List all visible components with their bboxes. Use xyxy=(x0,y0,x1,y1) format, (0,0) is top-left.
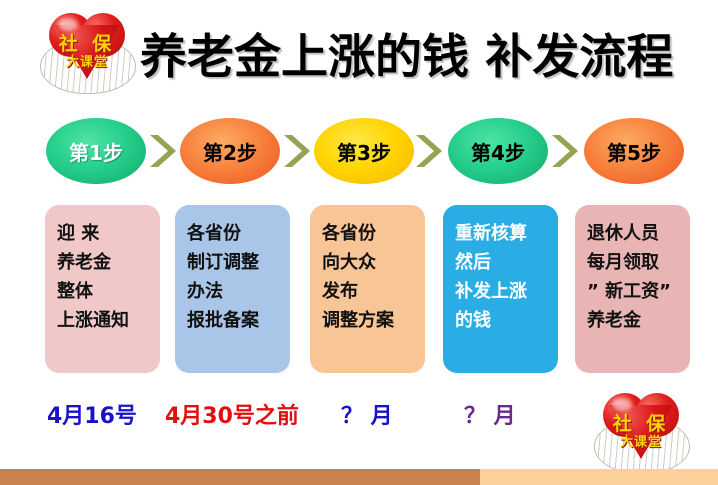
timeline-label-1: 4月16号 xyxy=(47,398,137,430)
card-line: 调整方案 xyxy=(322,306,417,335)
card-line: 制订调整 xyxy=(187,248,282,277)
chevron-right-icon xyxy=(148,133,178,169)
footer-logo: 社 保 大课堂 xyxy=(592,388,690,474)
card-line: 向大众 xyxy=(322,248,417,277)
timeline-label-3: ？ 月 xyxy=(341,398,393,430)
card-line: 报批备案 xyxy=(187,306,282,335)
card-line: 的钱 xyxy=(455,306,550,335)
step-card-3: 各省份 向大众 发布 调整方案 xyxy=(310,205,425,373)
card-line: ” 新工资” xyxy=(587,277,682,306)
heart-logo-icon: 社 保 大课堂 xyxy=(603,393,679,461)
timeline-label-4: ？ 月 xyxy=(464,398,516,430)
chevron-right-icon xyxy=(550,133,580,169)
card-line: 然后 xyxy=(455,248,550,277)
header-logo: 社 保 大课堂 xyxy=(38,8,136,94)
heart-logo-icon: 社 保 大课堂 xyxy=(49,13,125,81)
step-card-1: 迎 来 养老金 整体 上涨通知 xyxy=(45,205,160,373)
card-line: 迎 来 xyxy=(57,219,152,248)
card-line: 办法 xyxy=(187,277,282,306)
card-line: 重新核算 xyxy=(455,219,550,248)
chevron-right-icon xyxy=(282,133,312,169)
step-card-2: 各省份 制订调整 办法 报批备案 xyxy=(175,205,290,373)
step-card-4: 重新核算 然后 补发上涨 的钱 xyxy=(443,205,558,373)
card-line: 补发上涨 xyxy=(455,277,550,306)
card-line: 整体 xyxy=(57,277,152,306)
card-line: 退休人员 xyxy=(587,219,682,248)
step-circle-5[interactable]: 第5步 xyxy=(584,118,684,184)
card-line: 发布 xyxy=(322,277,417,306)
card-line: 各省份 xyxy=(187,219,282,248)
bottom-bar-right-segment xyxy=(480,469,718,485)
step-circle-2[interactable]: 第2步 xyxy=(180,118,280,184)
header-logo-line2: 大课堂 xyxy=(49,51,125,70)
page-title: 养老金上涨的钱 补发流程 xyxy=(140,18,673,87)
bottom-bar-left-segment xyxy=(0,469,480,485)
step-card-5: 退休人员 每月领取 ” 新工资” 养老金 xyxy=(575,205,690,373)
card-line: 上涨通知 xyxy=(57,306,152,335)
card-line: 各省份 xyxy=(322,219,417,248)
chevron-right-icon xyxy=(414,133,444,169)
poster-canvas: 社 保 大课堂 养老金上涨的钱 补发流程 第1步 第2步 第3步 第4步 第5步… xyxy=(0,0,718,485)
step-circle-3[interactable]: 第3步 xyxy=(314,118,414,184)
card-line: 养老金 xyxy=(57,248,152,277)
card-line: 养老金 xyxy=(587,306,682,335)
card-line: 每月领取 xyxy=(587,248,682,277)
step-circle-4[interactable]: 第4步 xyxy=(448,118,548,184)
timeline-label-2: 4月30号之前 xyxy=(165,398,299,430)
footer-logo-line2: 大课堂 xyxy=(603,431,679,450)
bottom-bar xyxy=(0,469,718,485)
step-circle-1[interactable]: 第1步 xyxy=(46,118,146,184)
